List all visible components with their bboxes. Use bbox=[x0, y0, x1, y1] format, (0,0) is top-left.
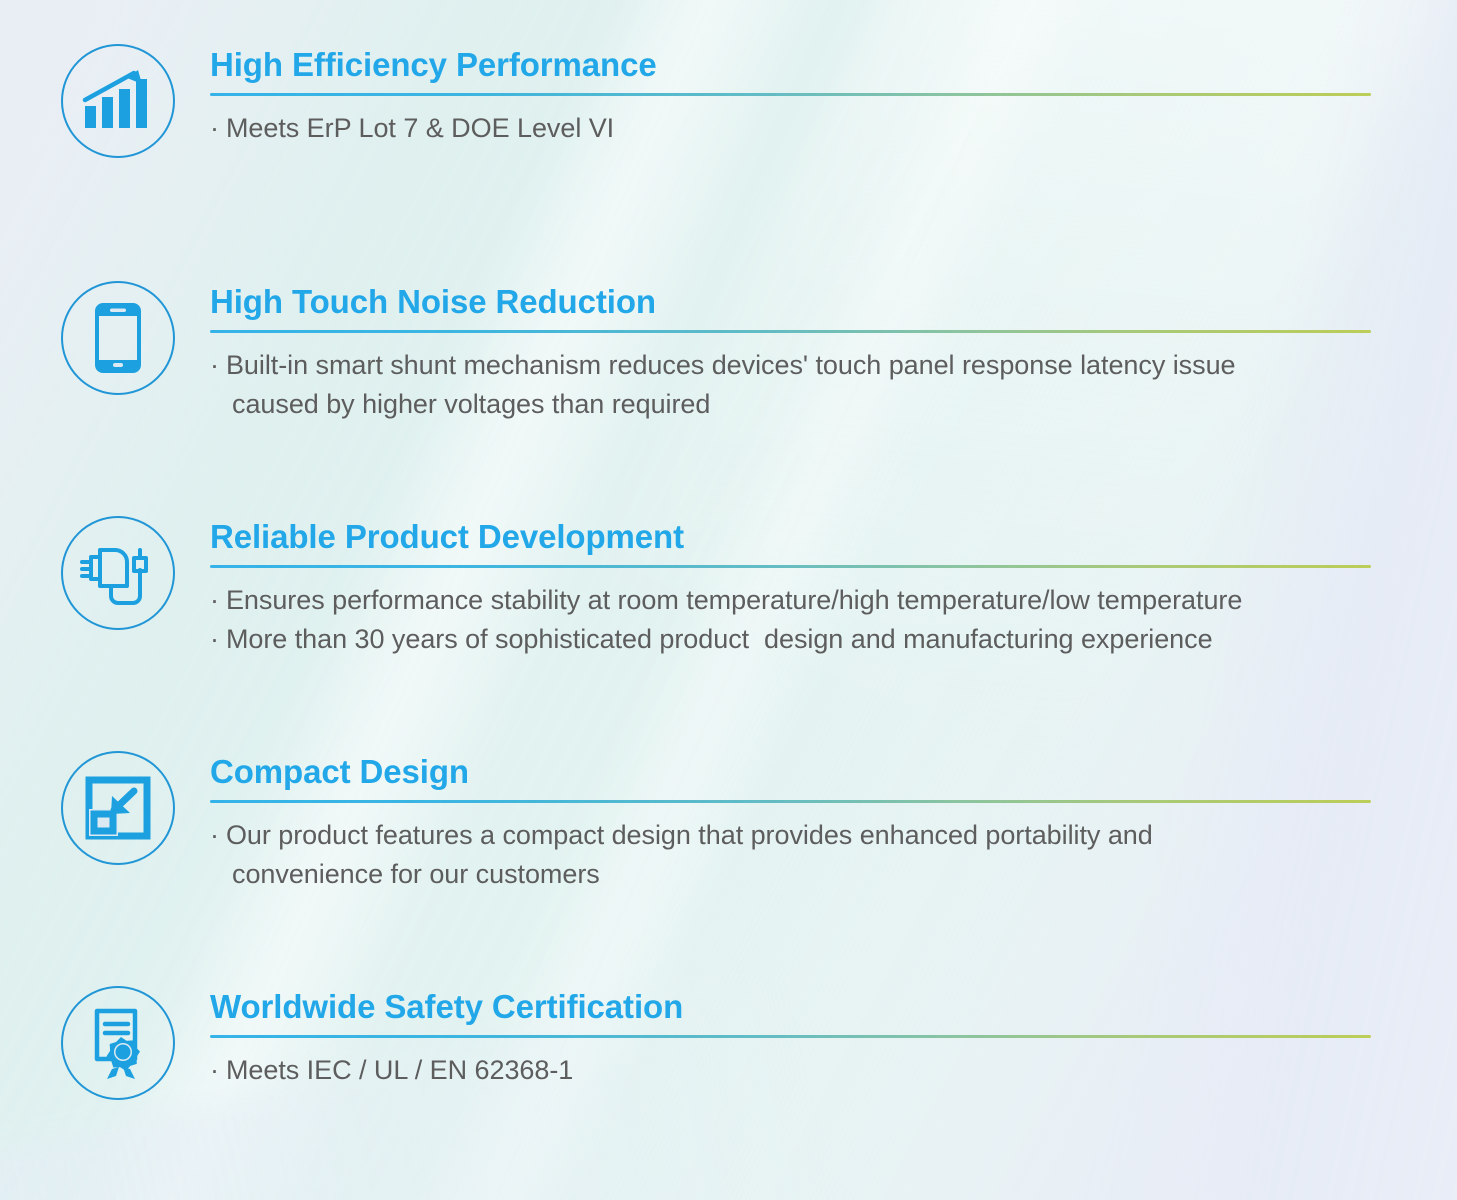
feature-item: Compact Design ·Our product features a c… bbox=[0, 751, 1457, 893]
feature-icon-badge bbox=[61, 44, 175, 158]
feature-item: High Touch Noise Reduction ·Built-in sma… bbox=[0, 281, 1457, 423]
bullet-line: ·Our product features a compact design t… bbox=[210, 816, 1457, 854]
bullet-text: Meets ErP Lot 7 & DOE Level VI bbox=[226, 113, 614, 143]
feature-icon-badge bbox=[61, 751, 175, 865]
bar-chart-growth-icon bbox=[82, 68, 154, 134]
feature-divider bbox=[210, 93, 1371, 96]
feature-title: Reliable Product Development bbox=[210, 518, 1457, 556]
feature-bullets: ·Our product features a compact design t… bbox=[210, 816, 1457, 893]
feature-icon-badge bbox=[61, 516, 175, 630]
bullet-text: Our product features a compact design th… bbox=[226, 820, 1153, 850]
bullet-marker: · bbox=[210, 1055, 219, 1085]
feature-content: High Efficiency Performance ·Meets ErP L… bbox=[210, 44, 1457, 148]
feature-divider bbox=[210, 800, 1371, 803]
feature-title: High Touch Noise Reduction bbox=[210, 283, 1457, 321]
certificate-award-icon bbox=[85, 1007, 151, 1079]
feature-icon-badge bbox=[61, 986, 175, 1100]
feature-content: Worldwide Safety Certification ·Meets IE… bbox=[210, 986, 1457, 1090]
bullet-marker: · bbox=[210, 820, 219, 850]
bullet-line: ·Ensures performance stability at room t… bbox=[210, 581, 1457, 619]
feature-title: Compact Design bbox=[210, 753, 1457, 791]
feature-item: Reliable Product Development ·Ensures pe… bbox=[0, 516, 1457, 658]
bullet-text: Meets IEC / UL / EN 62368-1 bbox=[226, 1055, 573, 1085]
bullet-line: caused by higher voltages than required bbox=[210, 385, 1457, 423]
bullet-marker: · bbox=[210, 350, 219, 380]
feature-divider bbox=[210, 1035, 1371, 1038]
power-adapter-icon bbox=[78, 538, 158, 608]
feature-title: Worldwide Safety Certification bbox=[210, 988, 1457, 1026]
feature-content: Compact Design ·Our product features a c… bbox=[210, 751, 1457, 893]
feature-bullets: ·Built-in smart shunt mechanism reduces … bbox=[210, 346, 1457, 423]
bullet-text: caused by higher voltages than required bbox=[232, 389, 710, 419]
feature-icon-badge bbox=[61, 281, 175, 395]
feature-bullets: ·Meets ErP Lot 7 & DOE Level VI bbox=[210, 109, 1457, 147]
bullet-marker: · bbox=[210, 585, 219, 615]
bullet-line: ·Meets ErP Lot 7 & DOE Level VI bbox=[210, 109, 1457, 147]
bullet-line: ·Meets IEC / UL / EN 62368-1 bbox=[210, 1051, 1457, 1089]
feature-divider bbox=[210, 330, 1371, 333]
compact-resize-icon bbox=[85, 776, 151, 840]
feature-divider bbox=[210, 565, 1371, 568]
feature-item: Worldwide Safety Certification ·Meets IE… bbox=[0, 986, 1457, 1100]
bullet-text: convenience for our customers bbox=[232, 859, 600, 889]
bullet-line: ·More than 30 years of sophisticated pro… bbox=[210, 620, 1457, 658]
bullet-marker: · bbox=[210, 113, 219, 143]
bullet-text: More than 30 years of sophisticated prod… bbox=[226, 624, 1213, 654]
bullet-text: Built-in smart shunt mechanism reduces d… bbox=[226, 350, 1236, 380]
feature-content: High Touch Noise Reduction ·Built-in sma… bbox=[210, 281, 1457, 423]
bullet-line: ·Built-in smart shunt mechanism reduces … bbox=[210, 346, 1457, 384]
bullet-text: Ensures performance stability at room te… bbox=[226, 585, 1242, 615]
bullet-marker: · bbox=[210, 624, 219, 654]
feature-item: High Efficiency Performance ·Meets ErP L… bbox=[0, 44, 1457, 158]
feature-content: Reliable Product Development ·Ensures pe… bbox=[210, 516, 1457, 658]
feature-bullets: ·Ensures performance stability at room t… bbox=[210, 581, 1457, 658]
feature-bullets: ·Meets IEC / UL / EN 62368-1 bbox=[210, 1051, 1457, 1089]
bullet-line: convenience for our customers bbox=[210, 855, 1457, 893]
smartphone-icon bbox=[95, 303, 141, 373]
feature-title: High Efficiency Performance bbox=[210, 46, 1457, 84]
